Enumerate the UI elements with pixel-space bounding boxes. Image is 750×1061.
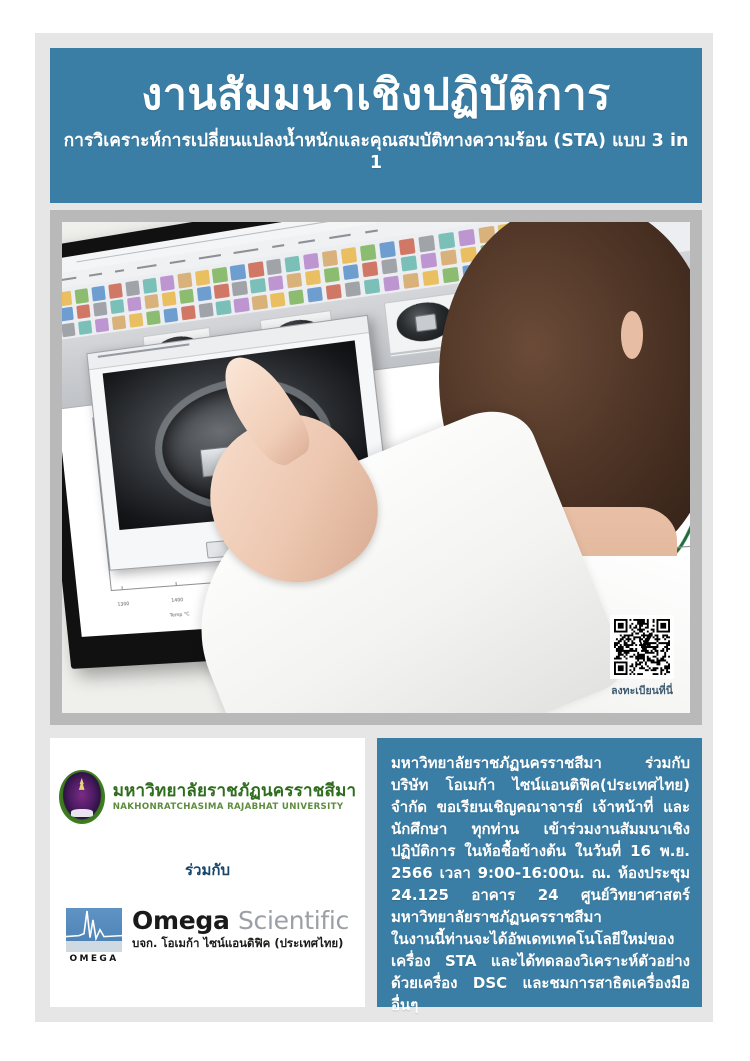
omega-wordmark: OMEGA: [66, 954, 122, 964]
partners-card: มหาวิทยาลัยราชภัฏนครราชสีมา NAKHONRATCHA…: [50, 738, 365, 1007]
person-ear: [621, 311, 643, 358]
company-name-bold: Omega: [132, 906, 230, 935]
omega-mark: OMEGA: [66, 908, 122, 964]
university-name-th: มหาวิทยาลัยราชภัฏนครราชสีมา: [113, 783, 357, 800]
plot-tick-label: 1300: [118, 602, 130, 608]
company-name: Omega Scientific: [132, 908, 349, 933]
details-paragraph-1: มหาวิทยาลัยราชภัฏนครราชสีมา ร่วมกับ บริษ…: [391, 752, 690, 928]
page-subtitle: การวิเคราะห์การเปลี่ยนแปลงน้ำหนักและคุณส…: [50, 131, 702, 175]
joint-label: ร่วมกับ: [185, 858, 230, 882]
qr-block[interactable]: ลงทะเบียนที่นี่: [610, 615, 674, 699]
qr-code[interactable]: [610, 615, 674, 679]
event-details-card: มหาวิทยาลัยราชภัฏนครราชสีมา ร่วมกับ บริษ…: [377, 738, 702, 1007]
company-name-block: Omega Scientific บจก. โอเมก้า ไซน์แอนดิฟ…: [132, 908, 349, 950]
page-title: งานสัมมนาเชิงปฏิบัติการ: [50, 70, 702, 121]
plot-x-label: Temp °C: [170, 612, 190, 619]
university-logo-text: มหาวิทยาลัยราชภัฏนครราชสีมา NAKHONRATCHA…: [113, 783, 357, 812]
university-logo: มหาวิทยาลัยราชภัฏนครราชสีมา NAKHONRATCHA…: [59, 770, 357, 824]
poster-header: งานสัมมนาเชิงปฏิบัติการ การวิเคราะห์การเ…: [50, 48, 702, 203]
omega-spike-icon: [66, 908, 122, 941]
university-crest-icon: [59, 770, 105, 824]
qr-code-image: [614, 619, 670, 675]
seminar-photo: 1300140015001600170018001900200021002200…: [62, 222, 690, 713]
photo-frame: 1300140015001600170018001900200021002200…: [50, 210, 702, 725]
details-paragraph-2: ในงานนี้ท่านจะได้อัพเดทเทคโนโลยีใหม่ของเ…: [391, 928, 690, 1016]
company-name-light: Scientific: [238, 906, 349, 935]
university-name-en: NAKHONRATCHASIMA RAJABHAT UNIVERSITY: [113, 803, 357, 812]
qr-caption: ลงทะเบียนที่นี่: [610, 682, 674, 699]
omega-peak-icon: [66, 908, 122, 952]
poster-page: งานสัมมนาเชิงปฏิบัติการ การวิเคราะห์การเ…: [35, 33, 713, 1022]
company-name-th: บจก. โอเมก้า ไซน์แอนดิฟิค (ประเทศไทย): [132, 938, 349, 950]
plot-tick-label: 1400: [172, 598, 185, 604]
company-logo: OMEGA Omega Scientific บจก. โอเมก้า ไซน์…: [66, 908, 349, 964]
